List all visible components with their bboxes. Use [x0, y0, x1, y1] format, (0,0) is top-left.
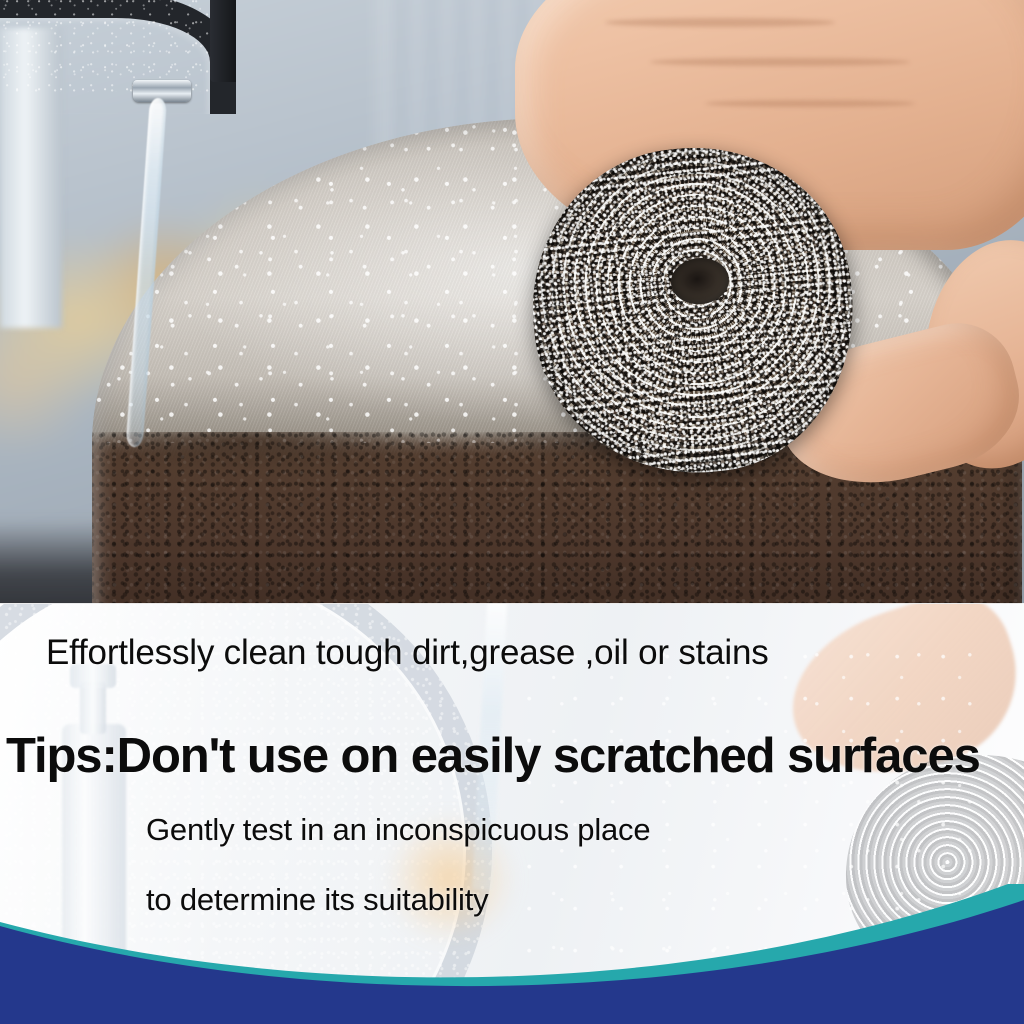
soap-dispenser-neck — [80, 682, 106, 734]
product-image-canvas: Effortlessly clean tough dirt,grease ,oi… — [0, 0, 1024, 1024]
caption-panel: Effortlessly clean tough dirt,grease ,oi… — [0, 604, 1024, 1024]
caption-benefit-line: Effortlessly clean tough dirt,grease ,oi… — [46, 633, 769, 673]
caption-test-line-2: to determine its suitability — [146, 882, 488, 918]
photo-scrubbing-demonstration — [0, 0, 1024, 604]
caption-test-line-1: Gently test in an inconspicuous place — [146, 812, 650, 848]
steel-wool-scrubber — [517, 132, 869, 489]
knuckle-crease — [705, 100, 915, 107]
wave-navy — [0, 900, 1024, 1024]
scrubber-wire-speckle — [517, 132, 869, 489]
faucet-spout-arm — [0, 0, 236, 114]
knuckle-crease — [650, 58, 910, 66]
knuckle-crease — [605, 18, 835, 27]
caption-tips-line: Tips:Don't use on easily scratched surfa… — [6, 728, 980, 784]
